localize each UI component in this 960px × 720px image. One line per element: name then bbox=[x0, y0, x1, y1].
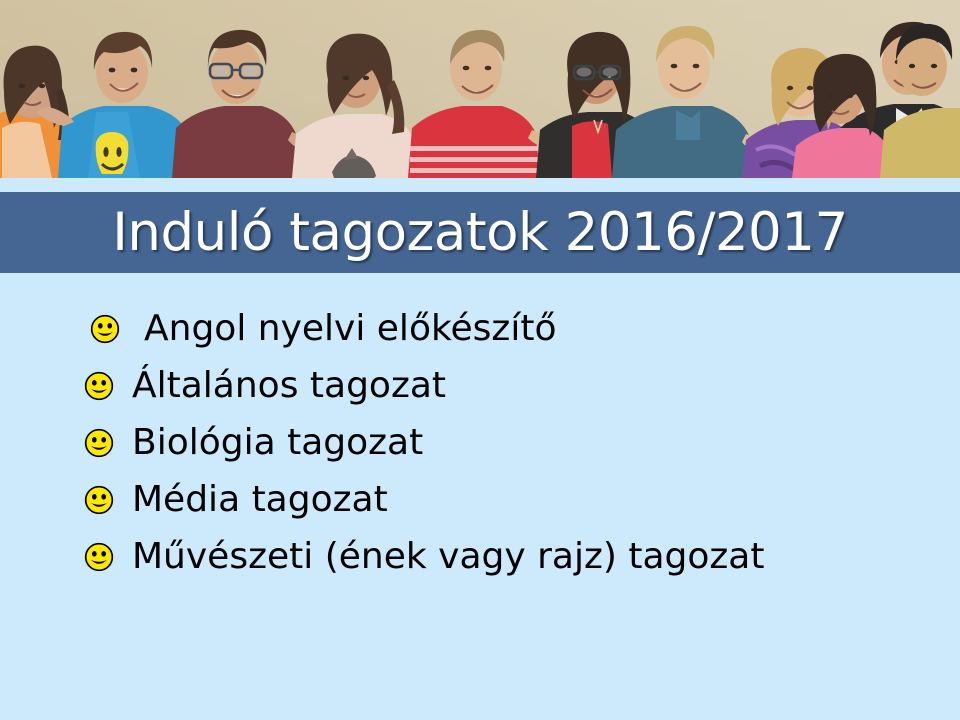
tagozat-list: Angol nyelvi előkészítő Általános tagoza… bbox=[0, 300, 960, 585]
smiley-face-icon bbox=[84, 542, 114, 572]
smiley-face-icon bbox=[84, 371, 114, 401]
smiley-face-icon bbox=[84, 428, 114, 458]
list-item: Általános tagozat bbox=[84, 357, 960, 414]
slide-title-bar: Induló tagozatok 2016/2017 bbox=[0, 192, 960, 273]
list-item: Biológia tagozat bbox=[84, 414, 960, 471]
list-item-label: Művészeti (ének vagy rajz) tagozat bbox=[132, 539, 764, 575]
smiley-face-icon bbox=[84, 485, 114, 515]
list-item-label: Angol nyelvi előkészítő bbox=[144, 311, 556, 347]
list-item-label: Biológia tagozat bbox=[132, 425, 423, 461]
page-title: Induló tagozatok 2016/2017 bbox=[112, 206, 847, 259]
list-item-label: Általános tagozat bbox=[132, 368, 446, 404]
slide: Induló tagozatok 2016/2017 Angol nyelvi … bbox=[0, 0, 960, 720]
group-photo-students-banner bbox=[0, 0, 960, 178]
smiley-face-icon bbox=[90, 314, 120, 344]
list-item: Angol nyelvi előkészítő bbox=[84, 300, 960, 357]
list-item-label: Média tagozat bbox=[132, 482, 388, 518]
list-item: Média tagozat bbox=[84, 471, 960, 528]
list-item: Művészeti (ének vagy rajz) tagozat bbox=[84, 528, 960, 585]
